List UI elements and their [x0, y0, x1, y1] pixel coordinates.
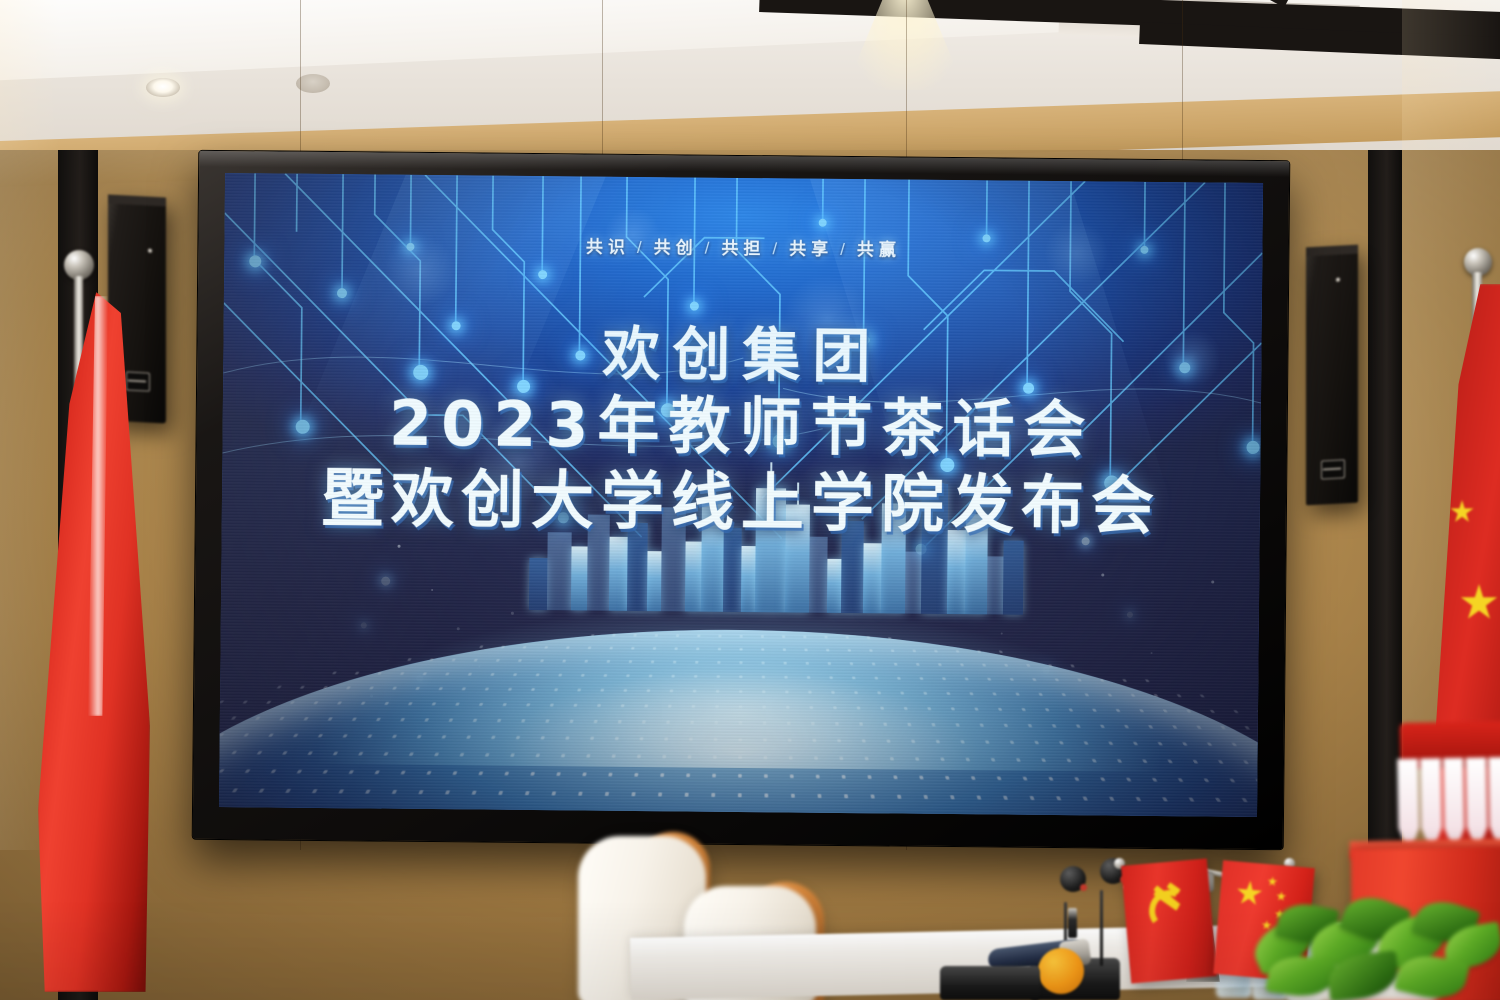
tagline-sep: /: [840, 240, 850, 259]
title-line-1: 欢创集团: [223, 321, 1262, 390]
speaker-right: [1306, 245, 1358, 506]
speaker-led-icon: [148, 249, 152, 253]
led-display-wall[interactable]: 共识/共创/共担/共享/共赢 欢创集团 2023年教师节茶话会 暨欢创大学线上学…: [193, 151, 1290, 849]
tagline-item-4: 共享: [789, 239, 833, 258]
display-screen[interactable]: 共识/共创/共担/共享/共赢 欢创集团 2023年教师节茶话会 暨欢创大学线上学…: [219, 173, 1263, 817]
tagline-item-1: 共识: [586, 238, 630, 257]
potted-plant: [1248, 898, 1500, 1000]
tagline-item-3: 共担: [721, 239, 765, 258]
downlight-icon: [296, 74, 330, 93]
screen-title-block: 欢创集团 2023年教师节茶话会 暨欢创大学线上学院发布会: [222, 321, 1262, 540]
downlight-icon: [146, 78, 180, 97]
tagline-sep: /: [705, 239, 715, 258]
tagline-item-2: 共创: [654, 238, 698, 257]
speaker-cap: [1306, 245, 1358, 257]
tagline-item-5: 共赢: [857, 240, 901, 259]
prc-star-icon: [1450, 500, 1474, 524]
usb-cable: [1068, 908, 1077, 938]
desk-flag-cpc-party: [1121, 858, 1217, 983]
tagline-sep: /: [637, 238, 647, 257]
tagline-sep: /: [772, 239, 782, 258]
speaker-badge-icon: [126, 371, 150, 391]
speaker-cap: [108, 194, 166, 206]
speaker-led-icon: [1336, 278, 1340, 282]
prc-small-star-icon: [1267, 876, 1278, 887]
title-line-2: 2023年教师节茶话会: [222, 390, 1261, 464]
handheld-microphone-windscreen: [1038, 948, 1084, 994]
mic-gooseneck: [1100, 890, 1103, 966]
speaker-badge-icon: [1321, 459, 1345, 479]
hammer-icon: [1147, 883, 1184, 924]
prc-star-icon: [1460, 584, 1498, 622]
mic-stand-base: [940, 966, 1040, 1000]
title-line-3: 暨欢创大学线上学院发布会: [222, 465, 1261, 540]
mic-indicator-led: [1080, 884, 1087, 891]
conference-room-photo: 共识/共创/共担/共享/共赢 欢创集团 2023年教师节茶话会 暨欢创大学线上学…: [0, 0, 1500, 1000]
